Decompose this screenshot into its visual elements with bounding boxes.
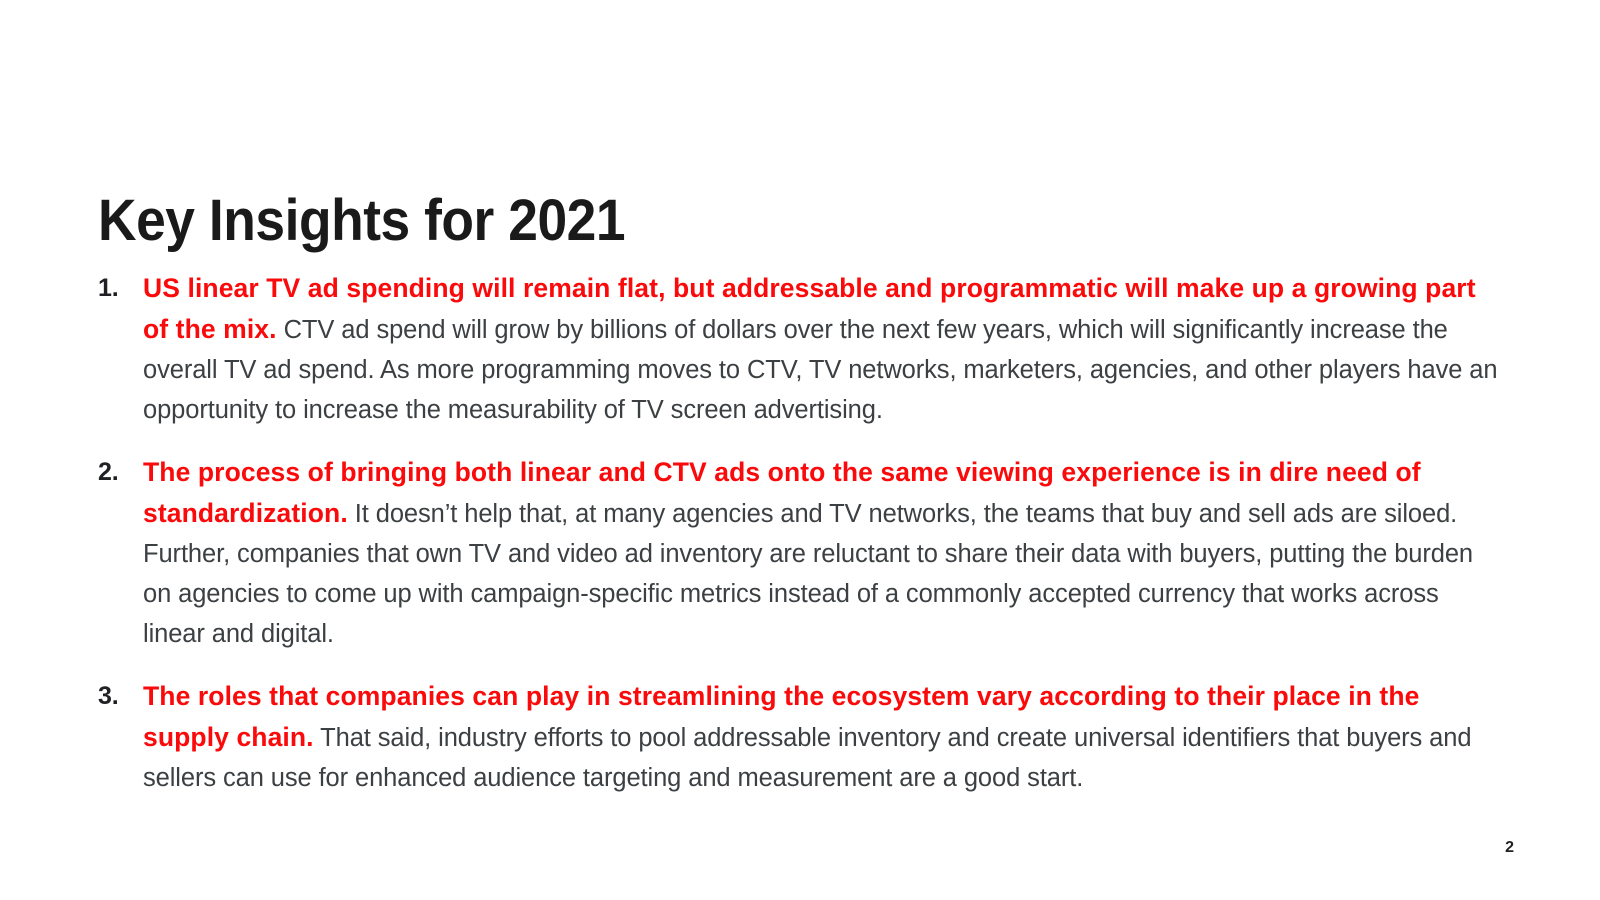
list-item-marker: 3. [98,676,130,716]
page-title: Key Insights for 2021 [98,187,625,255]
list-item: 1. US linear TV ad spending will remain … [98,268,1498,430]
list-item-body: That said, industry efforts to pool addr… [143,724,1471,792]
list-item: 2. The process of bringing both linear a… [98,452,1498,654]
list-item-marker: 1. [98,268,130,308]
slide-canvas: Key Insights for 2021 1. US linear TV ad… [0,0,1600,900]
page-number: 2 [1505,840,1514,856]
list-item-marker: 2. [98,452,130,492]
list-item-body: CTV ad spend will grow by billions of do… [143,316,1497,424]
insights-list: 1. US linear TV ad spending will remain … [98,268,1498,798]
list-item: 3. The roles that companies can play in … [98,676,1498,798]
